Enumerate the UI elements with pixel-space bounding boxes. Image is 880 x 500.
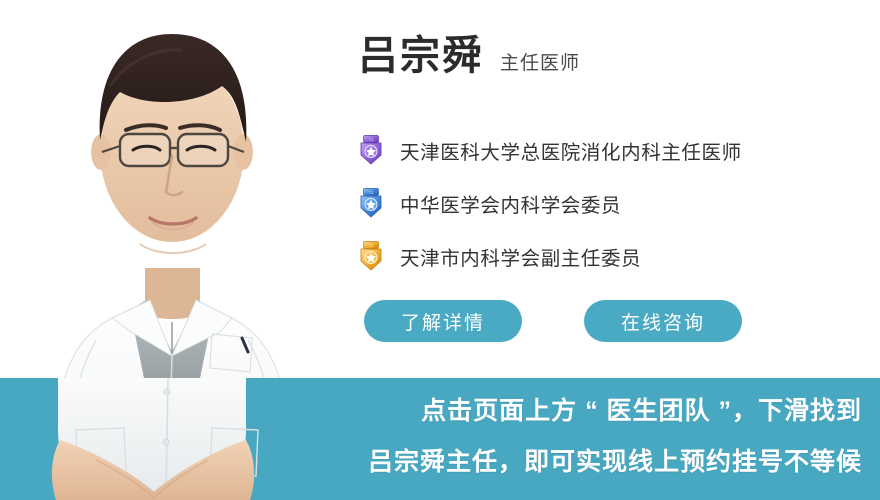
credential-text: 中华医学会内科学会委员 (400, 189, 621, 218)
doctor-info-panel: 吕宗舜 主任医师 TJ 天津医科大学总医院消化内科主任医师 (358, 0, 880, 378)
banner-line-2: 吕宗舜主任，即可实现线上预约挂号不等候 (368, 437, 862, 488)
doctor-profile-banner: 吕宗舜 主任医师 TJ 天津医科大学总医院消化内科主任医师 (0, 0, 880, 500)
doctor-title: 主任医师 (500, 54, 580, 73)
banner-line-1: 点击页面上方 “ 医生团队 ”，下滑找到 (368, 386, 862, 437)
svg-text:TJ: TJ (369, 137, 373, 142)
bottom-callout-banner: 点击页面上方 “ 医生团队 ”，下滑找到 吕宗舜主任，即可实现线上预约挂号不等候 (0, 378, 880, 500)
credential-item: TJ 中华医学会内科学会委员 (358, 183, 878, 223)
medal-badge-icon-gold: TJ (358, 241, 384, 271)
banner-text-block: 点击页面上方 “ 医生团队 ”，下滑找到 吕宗舜主任，即可实现线上预约挂号不等候 (368, 386, 862, 488)
svg-text:TJ: TJ (369, 243, 373, 248)
learn-details-button[interactable]: 了解详情 (364, 300, 522, 342)
credential-text: 天津医科大学总医院消化内科主任医师 (400, 136, 742, 165)
credential-item: TJ 天津医科大学总医院消化内科主任医师 (358, 130, 878, 170)
credential-list: TJ 天津医科大学总医院消化内科主任医师 TJ (358, 130, 878, 289)
button-spacer (522, 300, 584, 342)
online-consult-button[interactable]: 在线咨询 (584, 300, 742, 342)
credential-text: 天津市内科学会副主任委员 (400, 242, 641, 271)
svg-text:TJ: TJ (369, 190, 373, 195)
medal-badge-icon-blue: TJ (358, 188, 384, 218)
doctor-name-row: 吕宗舜 主任医师 (358, 36, 580, 76)
action-button-row: 了解详情 在线咨询 (364, 300, 742, 342)
doctor-name: 吕宗舜 (358, 36, 484, 76)
credential-item: TJ 天津市内科学会副主任委员 (358, 236, 878, 276)
medal-badge-icon-purple: TJ (358, 135, 384, 165)
